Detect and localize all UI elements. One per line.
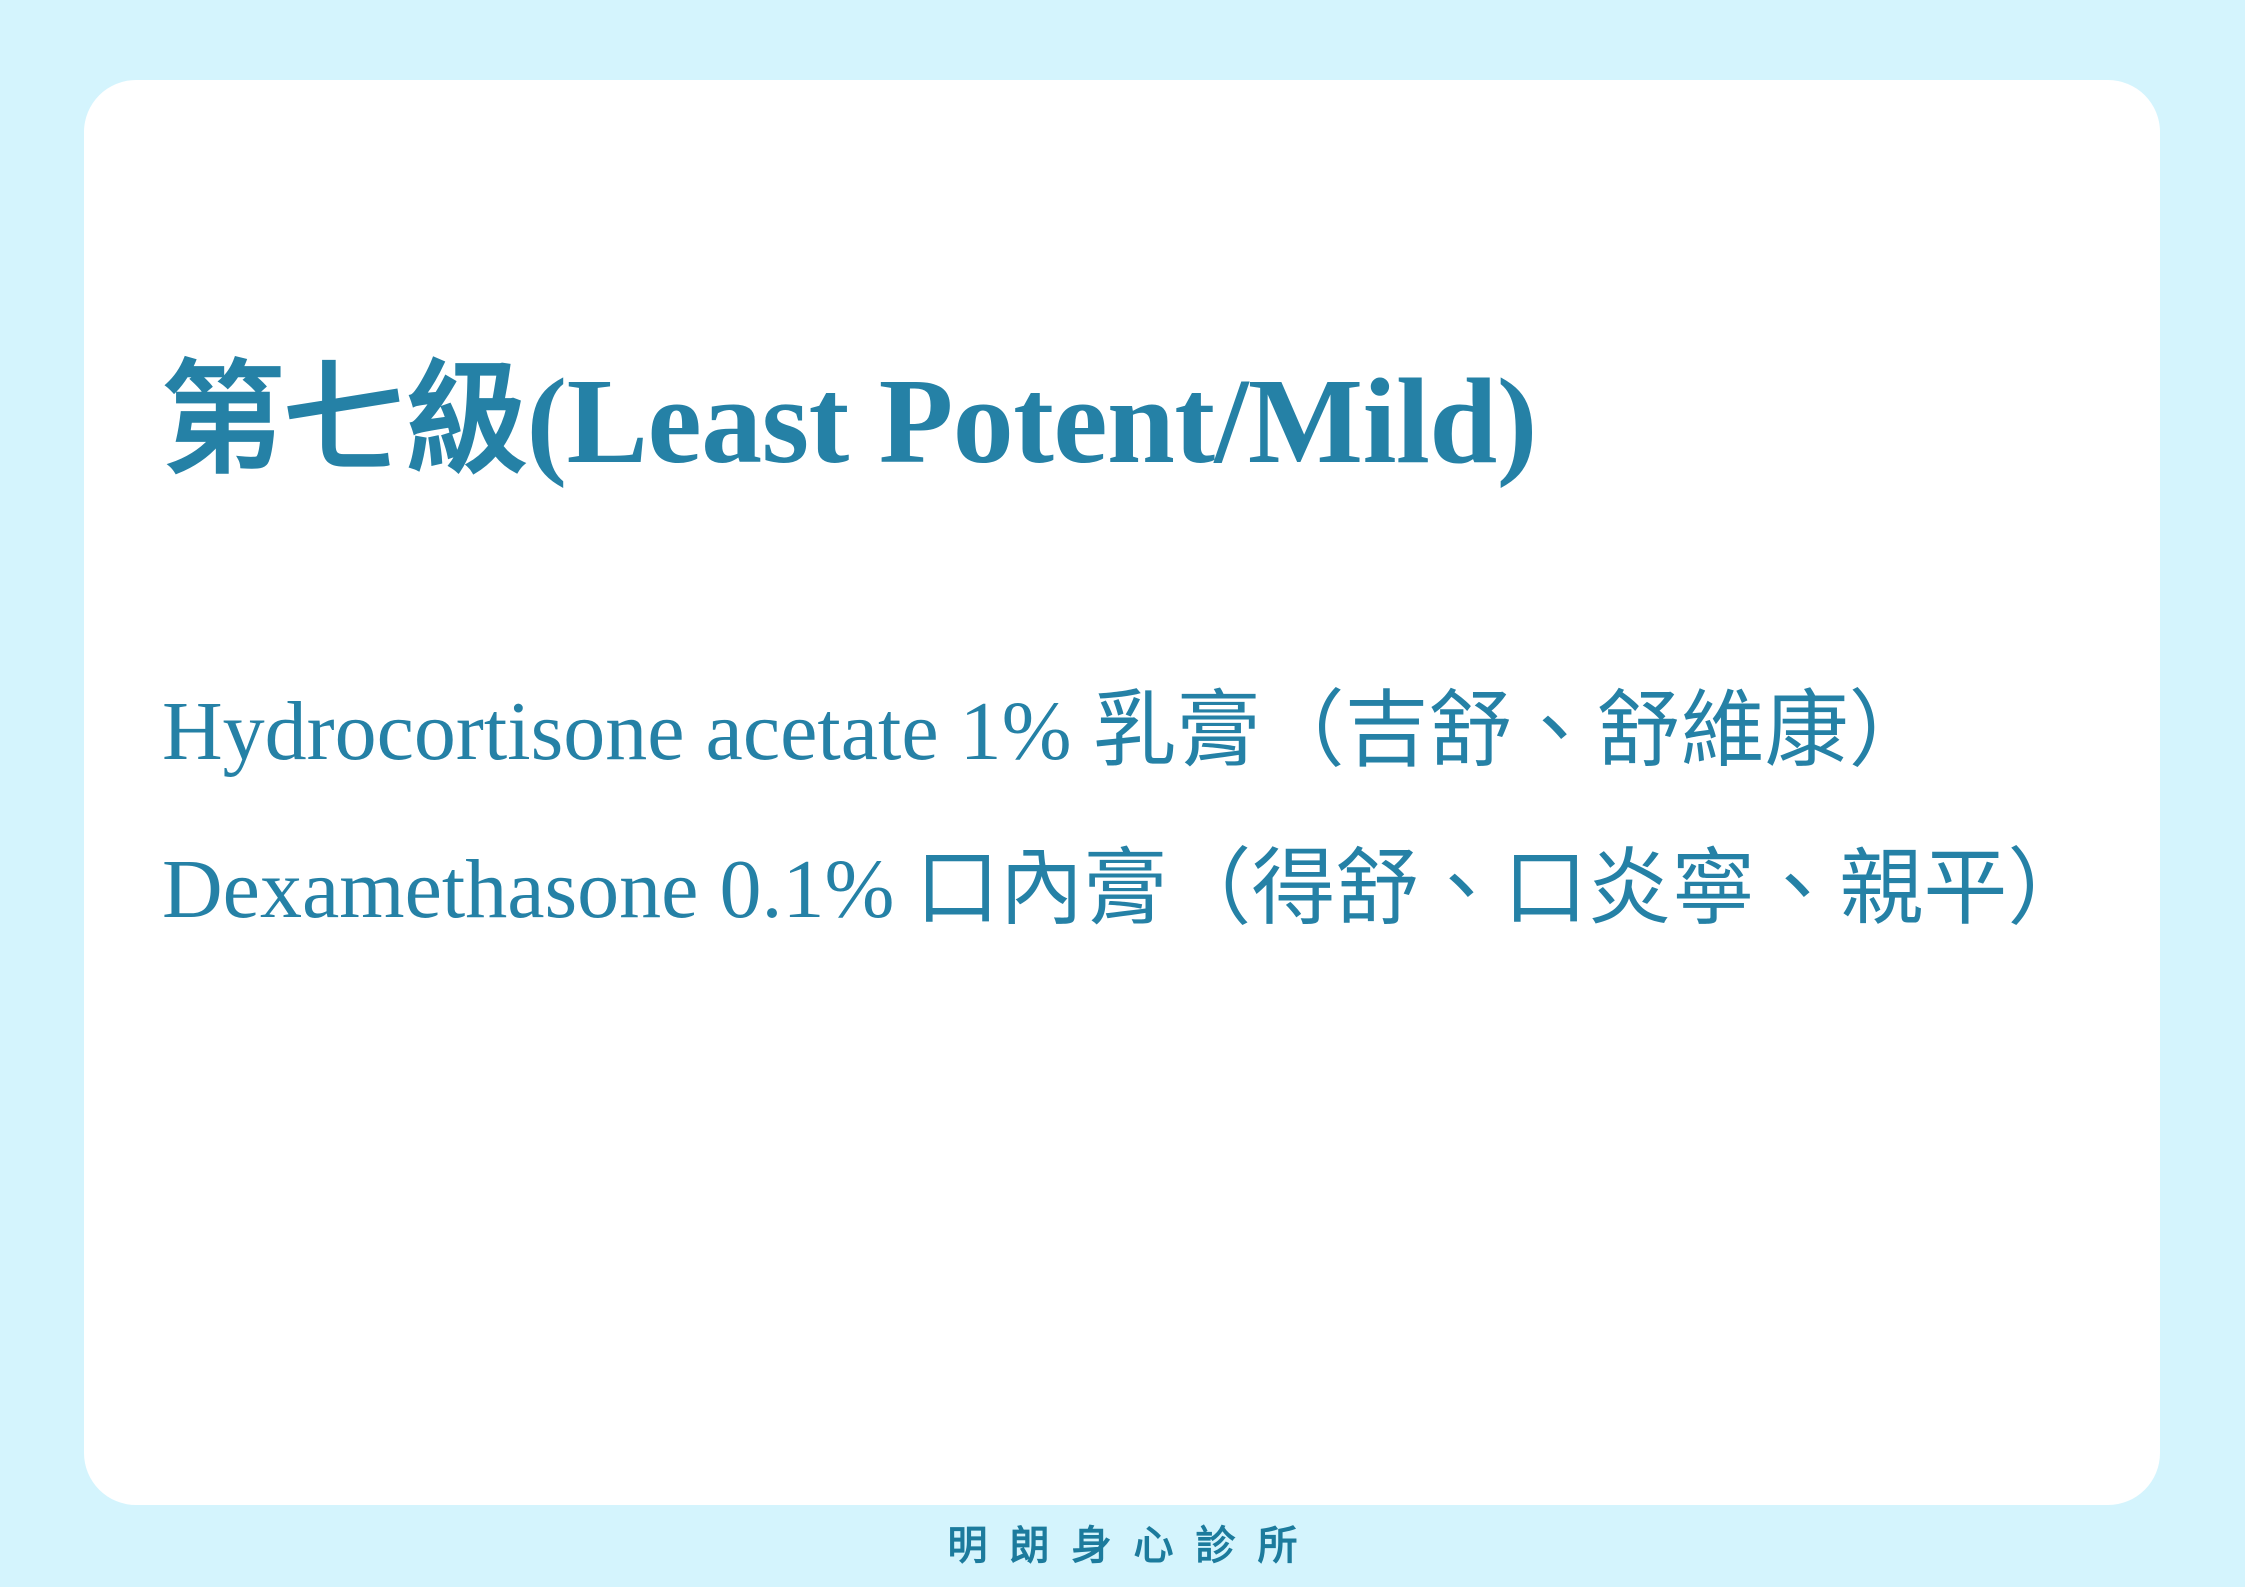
content-card: 第七級(Least Potent/Mild) Hydrocortisone ac… <box>84 80 2160 1505</box>
list-item: Hydrocortisone acetate 1% 乳膏（吉舒、舒維康） <box>162 690 2120 774</box>
slide-root: 第七級(Least Potent/Mild) Hydrocortisone ac… <box>0 0 2245 1587</box>
footer-bar: 明朗身心診所 <box>0 1505 2245 1587</box>
page-title: 第七級(Least Potent/Mild) <box>162 352 1537 492</box>
list-item: Dexamethasone 0.1% 口內膏（得舒、口炎寧、親平） <box>162 848 2120 932</box>
clinic-name: 明朗身心診所 <box>926 1526 1320 1566</box>
drug-list: Hydrocortisone acetate 1% 乳膏（吉舒、舒維康） Dex… <box>162 690 2120 932</box>
